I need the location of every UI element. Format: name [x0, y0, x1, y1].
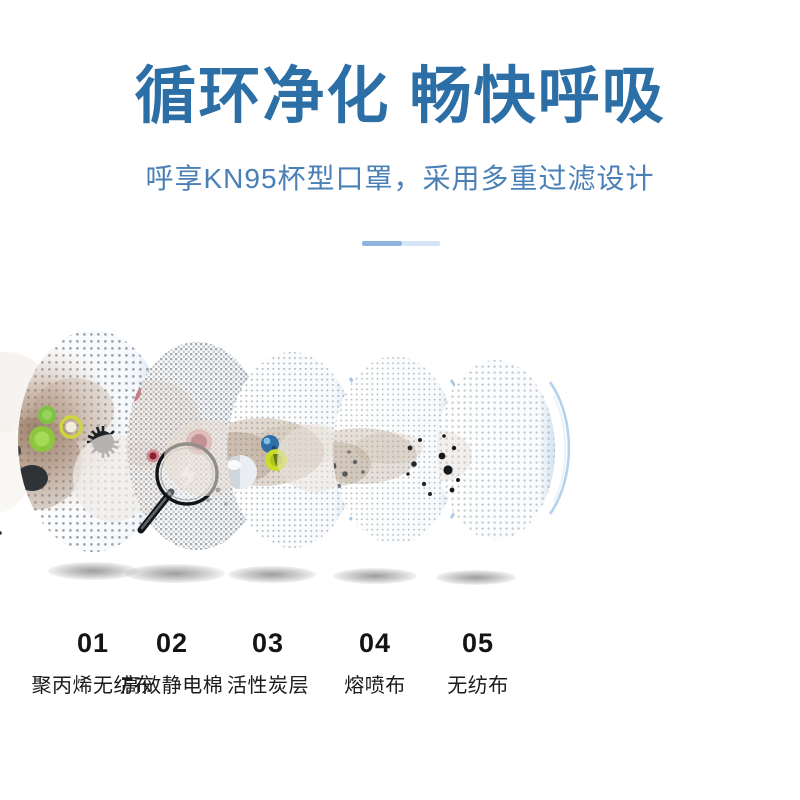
layer-captions: 01 聚丙烯无纺布 02 高效静电棉 03 活性炭层 04 熔喷布 05 无纺布 — [0, 630, 800, 720]
layer-number-05: 05 — [398, 630, 558, 657]
caption-05: 05 无纺布 — [398, 630, 558, 696]
page-subtitle: 呼享KN95杯型口罩，采用多重过滤设计 — [0, 157, 800, 197]
divider-segment-left — [362, 241, 402, 246]
layer-label-05: 无纺布 — [398, 676, 558, 696]
header: 循环净化 畅快呼吸 呼享KN95杯型口罩，采用多重过滤设计 — [0, 0, 800, 247]
layer-shadow — [436, 570, 516, 585]
page-title: 循环净化 畅快呼吸 — [0, 64, 800, 131]
divider — [0, 241, 800, 247]
divider-segment-right — [402, 241, 440, 246]
filter-layer-diagram — [0, 318, 800, 608]
layer-shadow — [333, 568, 417, 584]
